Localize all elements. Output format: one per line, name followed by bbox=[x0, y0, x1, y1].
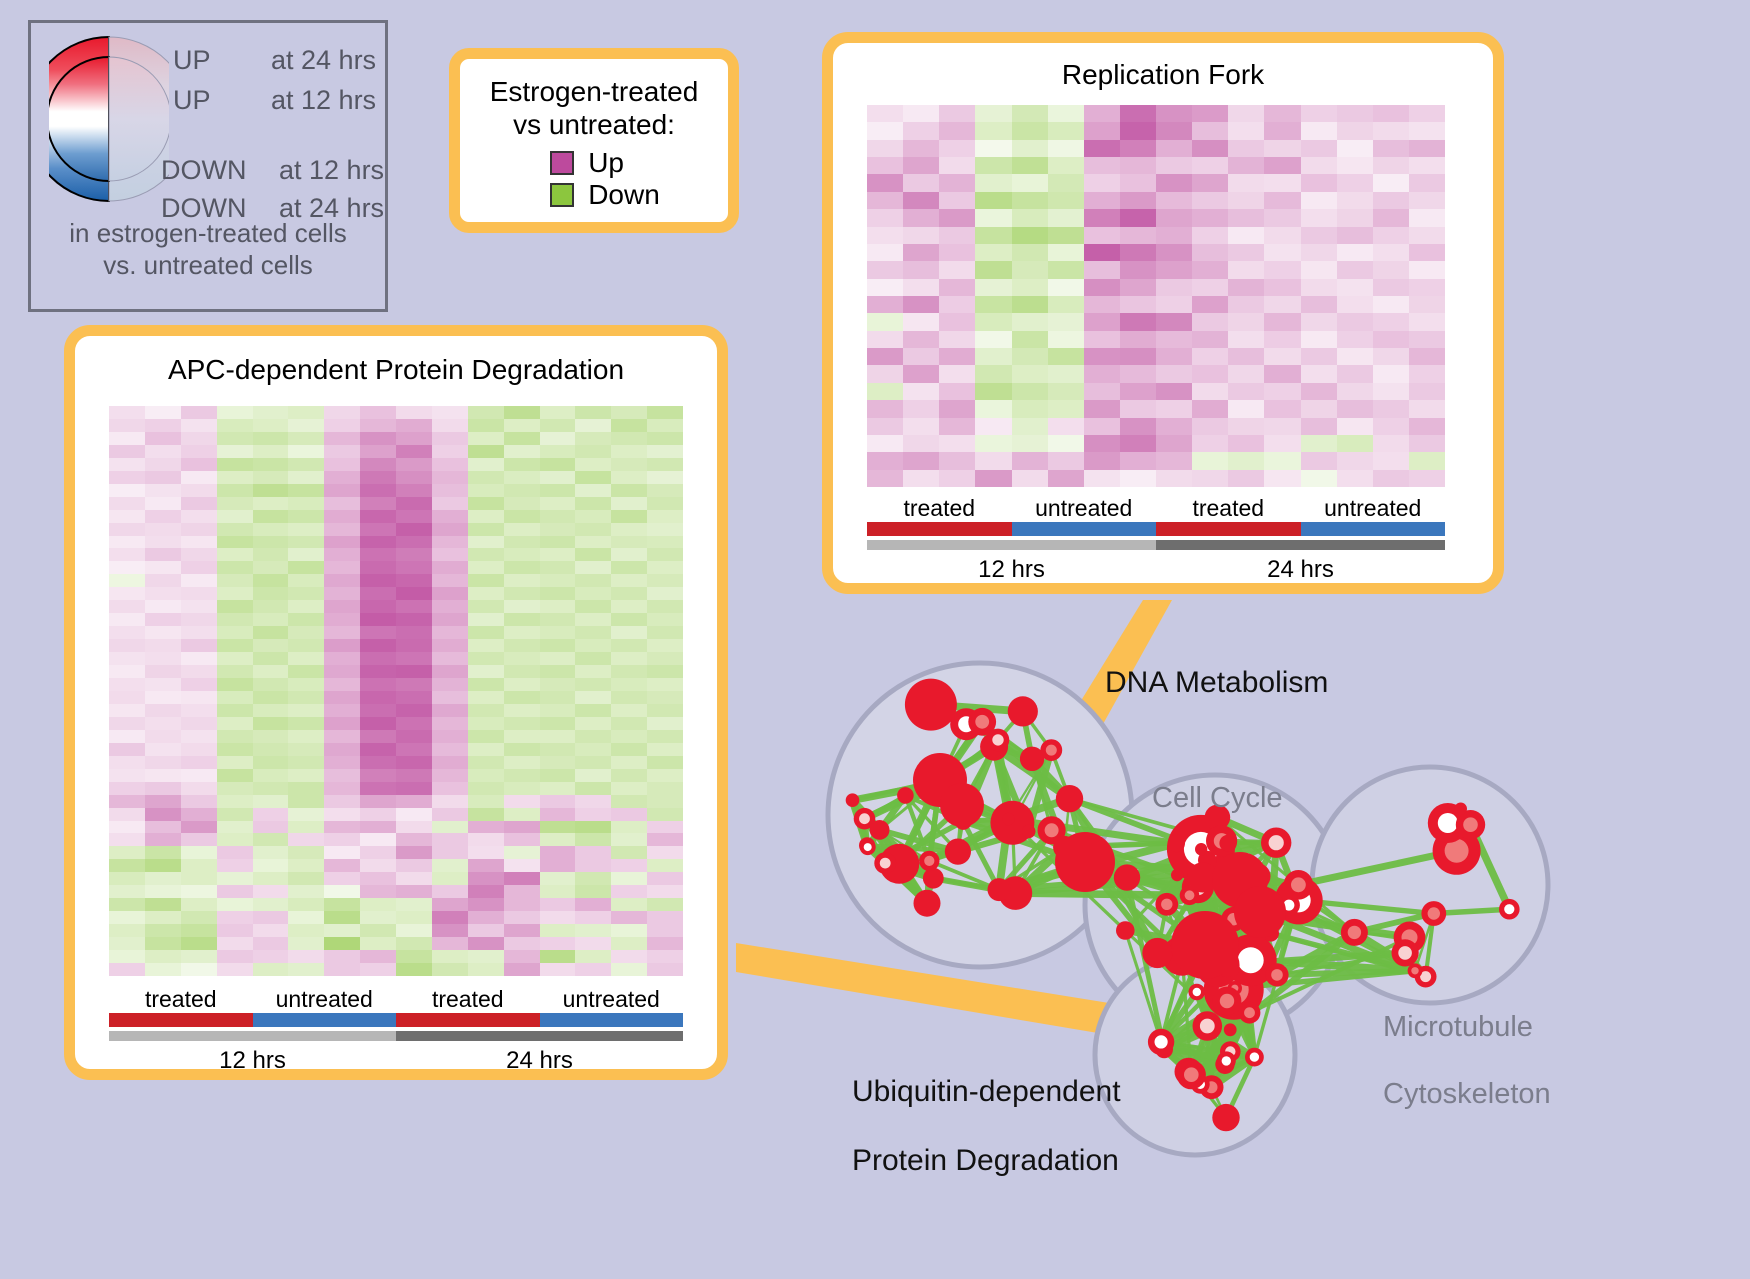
heatmap-cell bbox=[468, 743, 504, 756]
heatmap-cell bbox=[432, 678, 468, 691]
heatmap-cell bbox=[145, 808, 181, 821]
network-node[interactable] bbox=[1262, 908, 1281, 927]
heatmap-cell bbox=[253, 756, 289, 769]
network-edge bbox=[1234, 988, 1235, 990]
network-node[interactable] bbox=[1211, 958, 1224, 971]
heatmap-cell bbox=[324, 911, 360, 924]
network-edge bbox=[994, 747, 1069, 799]
network-node[interactable] bbox=[1155, 893, 1178, 916]
heatmap-cell bbox=[1156, 452, 1192, 469]
network-node[interactable] bbox=[1219, 835, 1236, 852]
heatmap-cell bbox=[504, 678, 540, 691]
network-edge bbox=[1272, 905, 1289, 917]
heatmap-cell bbox=[1301, 244, 1337, 261]
heatmap-cell bbox=[575, 432, 611, 445]
heatmap-cell bbox=[181, 691, 217, 704]
network-edge bbox=[927, 861, 929, 903]
network-node[interactable] bbox=[1499, 899, 1520, 920]
network-edge bbox=[1207, 1026, 1225, 1064]
network-edge bbox=[940, 783, 1009, 819]
heatmap-cell bbox=[181, 484, 217, 497]
network-edge bbox=[1277, 900, 1299, 975]
network-node[interactable] bbox=[1204, 960, 1264, 1020]
network-node[interactable] bbox=[1239, 1002, 1261, 1024]
network-node-core bbox=[1046, 745, 1057, 756]
heatmap-cell bbox=[468, 471, 504, 484]
network-edge bbox=[1224, 871, 1240, 880]
network-node[interactable] bbox=[860, 839, 876, 855]
network-node[interactable] bbox=[988, 878, 1011, 901]
cluster-label-ubiquitin-degradation: Ubiquitin-dependent Protein Degradation bbox=[852, 1040, 1121, 1213]
heatmap-cell bbox=[504, 523, 540, 536]
heatmap-cell bbox=[611, 898, 647, 911]
network-node-core bbox=[1184, 832, 1218, 866]
heatmap-cell bbox=[647, 821, 683, 834]
network-node[interactable] bbox=[1278, 894, 1300, 916]
heatmap-cell bbox=[1156, 383, 1192, 400]
network-node[interactable] bbox=[1261, 828, 1291, 858]
network-node[interactable] bbox=[1114, 864, 1140, 890]
heatmap-cell bbox=[540, 963, 576, 976]
heatmap-cell bbox=[468, 911, 504, 924]
heatmap-cell bbox=[324, 587, 360, 600]
heatmap-cell bbox=[253, 548, 289, 561]
heatmap-cell bbox=[1048, 365, 1084, 382]
network-node[interactable] bbox=[1262, 925, 1279, 942]
heatmap-cell bbox=[468, 419, 504, 432]
network-node[interactable] bbox=[1168, 835, 1185, 852]
heatmap-cell bbox=[1301, 435, 1337, 452]
network-node[interactable] bbox=[1053, 836, 1076, 859]
heatmap-cell bbox=[1156, 279, 1192, 296]
heatmap-cell bbox=[145, 484, 181, 497]
heatmap-cell bbox=[396, 872, 432, 885]
network-node[interactable] bbox=[1020, 747, 1044, 771]
heatmap-cell bbox=[145, 458, 181, 471]
network-edge bbox=[1182, 956, 1191, 1075]
network-node[interactable] bbox=[1394, 922, 1426, 954]
heatmap-cell bbox=[575, 523, 611, 536]
network-edge bbox=[1125, 875, 1177, 931]
heatmap-cell bbox=[109, 898, 145, 911]
network-node[interactable] bbox=[859, 837, 875, 853]
heatmap-cell bbox=[1301, 452, 1337, 469]
network-node[interactable] bbox=[1180, 886, 1200, 906]
network-node[interactable] bbox=[1217, 1051, 1236, 1070]
network-edge bbox=[958, 821, 963, 851]
heatmap-cell bbox=[253, 419, 289, 432]
network-edge bbox=[1015, 847, 1064, 893]
network-node[interactable] bbox=[1177, 1060, 1206, 1089]
heatmap-cell bbox=[1301, 365, 1337, 382]
heatmap-cell bbox=[217, 484, 253, 497]
heatmap-cell bbox=[1012, 470, 1048, 487]
network-node[interactable] bbox=[980, 733, 1008, 761]
heatmap-cell bbox=[903, 227, 939, 244]
heatmap-cell bbox=[324, 846, 360, 859]
network-node[interactable] bbox=[1116, 921, 1135, 940]
network-edge bbox=[1198, 871, 1224, 887]
heatmap-cell bbox=[181, 769, 217, 782]
network-edge bbox=[929, 852, 958, 861]
heatmap-cell bbox=[939, 174, 975, 191]
network-edge bbox=[1177, 875, 1257, 876]
network-node[interactable] bbox=[1038, 816, 1066, 844]
network-node[interactable] bbox=[1055, 832, 1115, 892]
network-edge bbox=[1127, 878, 1164, 1050]
heatmap-cell bbox=[468, 924, 504, 937]
heatmap-cell bbox=[611, 574, 647, 587]
network-node[interactable] bbox=[945, 839, 971, 865]
network-node[interactable] bbox=[990, 801, 1034, 845]
heatmap-cell bbox=[1228, 400, 1264, 417]
heatmap-cell bbox=[145, 419, 181, 432]
heatmap-cell bbox=[432, 743, 468, 756]
network-node[interactable] bbox=[897, 787, 914, 804]
heatmap-cell bbox=[1120, 279, 1156, 296]
heatmap-cell bbox=[145, 821, 181, 834]
heatmap-cell bbox=[504, 885, 540, 898]
network-node[interactable] bbox=[1225, 934, 1277, 986]
network-edge bbox=[1289, 885, 1299, 905]
network-edge bbox=[905, 795, 963, 821]
network-node[interactable] bbox=[1040, 739, 1062, 761]
heatmap-cell bbox=[1156, 105, 1192, 122]
network-node[interactable] bbox=[1213, 987, 1242, 1016]
network-edge bbox=[1182, 945, 1205, 956]
heatmap-cell bbox=[217, 510, 253, 523]
network-node[interactable] bbox=[846, 793, 860, 807]
heatmap-cell bbox=[504, 769, 540, 782]
network-edge bbox=[963, 747, 994, 822]
heatmap-cell bbox=[903, 418, 939, 435]
heatmap-cell bbox=[540, 613, 576, 626]
network-edge bbox=[1227, 1001, 1250, 1013]
network-node[interactable] bbox=[1217, 864, 1232, 879]
heatmap-cell bbox=[504, 652, 540, 665]
network-node[interactable] bbox=[1189, 984, 1206, 1001]
heatmap-cell bbox=[939, 209, 975, 226]
network-node[interactable] bbox=[1224, 1023, 1237, 1036]
network-edge bbox=[1230, 900, 1298, 1051]
network-node[interactable] bbox=[1212, 1104, 1239, 1131]
network-node[interactable] bbox=[999, 876, 1033, 910]
network-node[interactable] bbox=[955, 813, 972, 830]
network-edge bbox=[1354, 932, 1425, 976]
network-edge bbox=[1228, 843, 1257, 876]
network-node[interactable] bbox=[913, 753, 967, 807]
network-node[interactable] bbox=[1456, 810, 1485, 839]
heatmap-cell bbox=[575, 833, 611, 846]
network-node[interactable] bbox=[1167, 815, 1235, 883]
network-node[interactable] bbox=[1198, 851, 1217, 870]
network-node[interactable] bbox=[1008, 696, 1038, 726]
heatmap-cell bbox=[217, 833, 253, 846]
network-node[interactable] bbox=[914, 890, 941, 917]
network-edge bbox=[1200, 919, 1233, 1084]
heatmap-cell bbox=[1409, 209, 1445, 226]
network-edge bbox=[958, 805, 962, 852]
network-node[interactable] bbox=[1191, 1075, 1210, 1094]
heatmap-cell bbox=[1228, 261, 1264, 278]
network-edge bbox=[1176, 843, 1201, 849]
heatmap-cell bbox=[432, 484, 468, 497]
heatmap-cell bbox=[647, 678, 683, 691]
heatmap-cell bbox=[217, 600, 253, 613]
network-edge bbox=[1191, 1064, 1225, 1074]
heatmap-cell bbox=[396, 743, 432, 756]
network-node[interactable] bbox=[1175, 1058, 1203, 1086]
heatmap-cell bbox=[1048, 244, 1084, 261]
heatmap-cell bbox=[432, 937, 468, 950]
heatmap-cell bbox=[396, 911, 432, 924]
network-node[interactable] bbox=[1244, 863, 1271, 890]
heatmap-cell bbox=[1301, 383, 1337, 400]
network-edge bbox=[1201, 849, 1207, 860]
network-edge bbox=[1023, 711, 1032, 758]
network-node[interactable] bbox=[1454, 803, 1467, 816]
heatmap-cell bbox=[253, 743, 289, 756]
network-edge bbox=[1251, 885, 1299, 960]
network-edge bbox=[1203, 877, 1231, 1029]
heatmap-cell bbox=[181, 950, 217, 963]
heatmap-cell bbox=[109, 613, 145, 626]
network-node[interactable] bbox=[1002, 813, 1014, 825]
heatmap-cell bbox=[324, 704, 360, 717]
network-node[interactable] bbox=[987, 729, 1010, 752]
network-edge bbox=[962, 805, 1008, 819]
heatmap-cell bbox=[575, 574, 611, 587]
network-node[interactable] bbox=[1284, 870, 1314, 900]
replication-fork-card: Replication Fork treated untreated treat… bbox=[822, 32, 1504, 594]
network-edge bbox=[940, 740, 998, 780]
network-node[interactable] bbox=[1220, 1041, 1241, 1062]
network-node[interactable] bbox=[919, 851, 939, 871]
network-node[interactable] bbox=[1341, 919, 1368, 946]
heatmap-cell bbox=[647, 898, 683, 911]
heatmap-cell bbox=[575, 963, 611, 976]
heatmap-cell bbox=[109, 924, 145, 937]
heatmap-cell bbox=[217, 937, 253, 950]
heatmap-cell bbox=[575, 561, 611, 574]
heatmap-cell bbox=[647, 419, 683, 432]
network-edge bbox=[1085, 862, 1182, 956]
network-edge bbox=[962, 740, 998, 805]
network-node[interactable] bbox=[1206, 825, 1237, 856]
network-edge bbox=[1127, 878, 1198, 888]
network-node[interactable] bbox=[1196, 943, 1240, 987]
network-edge bbox=[1271, 905, 1289, 933]
heatmap-cell bbox=[360, 808, 396, 821]
heatmap-cell bbox=[288, 613, 324, 626]
network-node[interactable] bbox=[1215, 1055, 1234, 1074]
heatmap-cell bbox=[611, 471, 647, 484]
heatmap-cell bbox=[1084, 313, 1120, 330]
heatmap-cell bbox=[504, 872, 540, 885]
network-edge bbox=[1190, 817, 1218, 895]
network-edge bbox=[1203, 877, 1218, 965]
network-node[interactable] bbox=[905, 679, 957, 731]
heatmap-cell bbox=[1301, 296, 1337, 313]
heatmap-cell bbox=[611, 600, 647, 613]
network-node[interactable] bbox=[1265, 963, 1288, 986]
network-edge bbox=[999, 830, 1052, 889]
heatmap-cell bbox=[360, 652, 396, 665]
network-node[interactable] bbox=[1408, 963, 1423, 978]
heatmap-cell bbox=[288, 419, 324, 432]
network-edge bbox=[1271, 933, 1426, 976]
network-edge bbox=[1205, 945, 1227, 967]
heatmap-cell bbox=[1409, 140, 1445, 157]
network-edge bbox=[1191, 1052, 1230, 1075]
heatmap-cell bbox=[396, 652, 432, 665]
network-edge bbox=[1207, 860, 1233, 919]
network-node[interactable] bbox=[1195, 843, 1207, 855]
network-node[interactable] bbox=[1392, 939, 1419, 966]
network-edge bbox=[1085, 862, 1205, 945]
heatmap-cell bbox=[1337, 452, 1373, 469]
heatmap-cell bbox=[1048, 296, 1084, 313]
heatmap-cell bbox=[1084, 348, 1120, 365]
network-node[interactable] bbox=[1162, 936, 1202, 976]
heatmap-cell bbox=[1228, 227, 1264, 244]
network-edge bbox=[867, 845, 929, 861]
heatmap-cell bbox=[360, 963, 396, 976]
network-node[interactable] bbox=[1188, 862, 1218, 892]
heatmap-cell bbox=[288, 510, 324, 523]
network-node[interactable] bbox=[854, 808, 876, 830]
heatmap-cell bbox=[181, 795, 217, 808]
heatmap-cell bbox=[217, 561, 253, 574]
network-node[interactable] bbox=[870, 820, 890, 840]
network-node[interactable] bbox=[1171, 869, 1183, 881]
network-node-core bbox=[1504, 904, 1514, 914]
network-edge bbox=[899, 805, 962, 864]
network-edge bbox=[1167, 876, 1257, 904]
network-node[interactable] bbox=[1421, 901, 1446, 926]
heatmap-cell bbox=[1409, 400, 1445, 417]
network-edge bbox=[1157, 953, 1217, 965]
heatmap-cell bbox=[575, 497, 611, 510]
network-node[interactable] bbox=[1245, 1048, 1264, 1067]
network-edge bbox=[905, 783, 939, 795]
network-edge bbox=[1251, 876, 1257, 960]
heatmap-cell bbox=[1120, 122, 1156, 139]
heatmap-cell bbox=[1337, 192, 1373, 209]
network-node[interactable] bbox=[923, 868, 944, 889]
network-node-core bbox=[1222, 1056, 1231, 1065]
heatmap-cell bbox=[109, 587, 145, 600]
heatmap-cell bbox=[647, 756, 683, 769]
network-edge bbox=[1125, 931, 1230, 1030]
network-node[interactable] bbox=[940, 783, 984, 827]
network-node[interactable] bbox=[1193, 1011, 1223, 1041]
network-node[interactable] bbox=[1234, 886, 1286, 938]
heatmap-cell bbox=[468, 885, 504, 898]
network-edge bbox=[1203, 877, 1272, 917]
network-node[interactable] bbox=[968, 708, 996, 736]
heatmap-cell bbox=[109, 639, 145, 652]
network-node[interactable] bbox=[1228, 981, 1242, 995]
network-node[interactable] bbox=[1148, 1029, 1174, 1055]
heatmap-cell bbox=[647, 937, 683, 950]
legend-line-1: Estrogen-treated bbox=[490, 75, 699, 108]
heatmap-cell bbox=[975, 122, 1011, 139]
heatmap-cell bbox=[1301, 105, 1337, 122]
heatmap-cell bbox=[324, 950, 360, 963]
heatmap-cell bbox=[109, 419, 145, 432]
network-edge bbox=[998, 711, 1023, 740]
network-node[interactable] bbox=[925, 769, 954, 798]
heatmap-cell bbox=[217, 523, 253, 536]
heatmap-cell bbox=[396, 484, 432, 497]
heatmap-cell bbox=[1084, 261, 1120, 278]
heatmap-cell bbox=[396, 924, 432, 937]
network-node[interactable] bbox=[950, 708, 982, 740]
heatmap-cell bbox=[1301, 227, 1337, 244]
heatmap-cell bbox=[867, 209, 903, 226]
heatmap-cell bbox=[432, 769, 468, 782]
heatmap-cell bbox=[468, 548, 504, 561]
heatmap-cell bbox=[504, 795, 540, 808]
heatmap-cell bbox=[1373, 209, 1409, 226]
heatmap-cell bbox=[540, 937, 576, 950]
heatmap-cell bbox=[324, 419, 360, 432]
heatmap-cell bbox=[181, 587, 217, 600]
heatmap-cell bbox=[109, 730, 145, 743]
heatmap-cell bbox=[1120, 105, 1156, 122]
network-node[interactable] bbox=[1182, 871, 1214, 903]
heatmap-cell bbox=[1264, 383, 1300, 400]
network-edge bbox=[1008, 819, 1012, 823]
network-edge bbox=[1182, 956, 1217, 965]
heatmap-cell bbox=[396, 795, 432, 808]
heatmap-cell bbox=[647, 626, 683, 639]
network-edge bbox=[1015, 830, 1051, 893]
group-label-1: untreated bbox=[253, 986, 397, 1013]
network-node[interactable] bbox=[874, 852, 896, 874]
network-node[interactable] bbox=[879, 844, 919, 884]
network-node[interactable] bbox=[1056, 785, 1083, 812]
heatmap-cell bbox=[217, 419, 253, 432]
heatmap-cell bbox=[253, 898, 289, 911]
heatmap-cell bbox=[867, 435, 903, 452]
time-bar-segment-0 bbox=[867, 540, 1156, 550]
network-node[interactable] bbox=[1212, 852, 1268, 908]
heatmap-cell bbox=[575, 639, 611, 652]
network-node[interactable] bbox=[1216, 956, 1237, 977]
network-edge bbox=[940, 722, 982, 780]
heatmap-cell bbox=[396, 613, 432, 626]
network-node[interactable] bbox=[1171, 911, 1239, 979]
network-node[interactable] bbox=[1200, 1075, 1224, 1099]
network-node[interactable] bbox=[1221, 907, 1246, 932]
network-node[interactable] bbox=[1022, 825, 1036, 839]
heatmap-cell bbox=[1337, 296, 1373, 313]
network-node[interactable] bbox=[1433, 827, 1481, 875]
heatmap-cell bbox=[324, 574, 360, 587]
network-node[interactable] bbox=[1155, 1041, 1173, 1059]
heatmap-cell bbox=[1084, 296, 1120, 313]
network-edge bbox=[1234, 905, 1289, 919]
time-bar-segment-1 bbox=[1156, 540, 1445, 550]
network-node[interactable] bbox=[1142, 938, 1172, 968]
network-node[interactable] bbox=[1428, 803, 1468, 843]
network-node[interactable] bbox=[1275, 876, 1323, 924]
network-edge bbox=[1200, 1084, 1211, 1087]
network-edge bbox=[1226, 1057, 1254, 1118]
network-edge bbox=[1182, 956, 1218, 966]
